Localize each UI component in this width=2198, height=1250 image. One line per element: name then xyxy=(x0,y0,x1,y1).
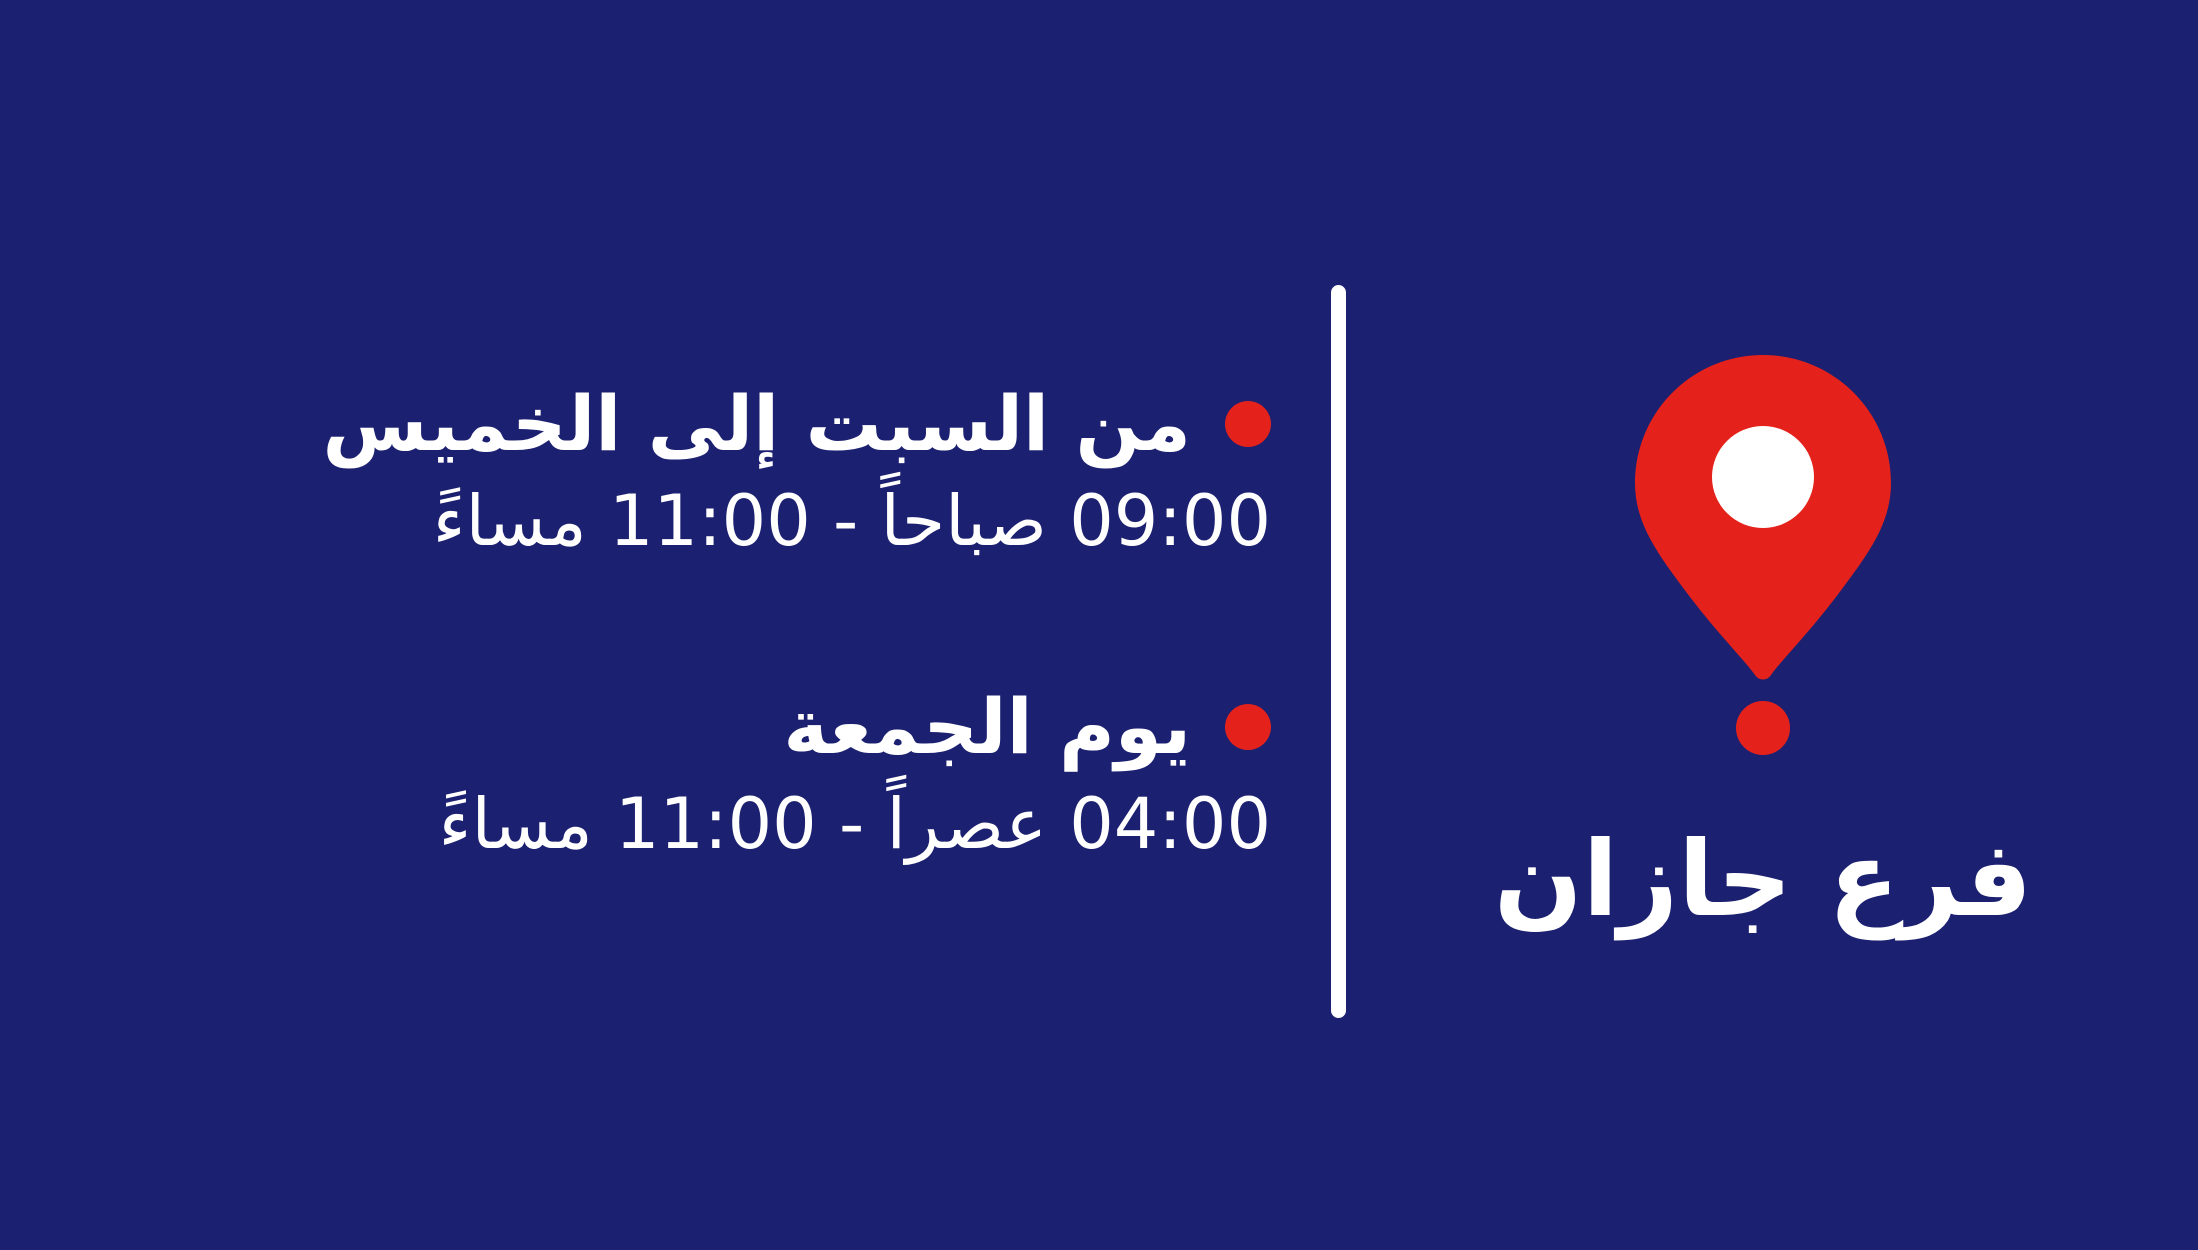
schedule-title-friday: يوم الجمعة xyxy=(783,685,1191,769)
branch-name-title: فرع جازان xyxy=(1494,823,2032,935)
branch-hours-banner: من السبت إلى الخميس 09:00 صباحاً - 11:00… xyxy=(0,0,2198,1250)
map-pin-base-dot-icon xyxy=(1736,701,1790,755)
schedule-hours-friday: 04:00 عصراً - 11:00 مساءً xyxy=(60,781,1271,869)
schedule-heading-row: من السبت إلى الخميس xyxy=(60,382,1271,466)
bullet-dot-icon xyxy=(1225,704,1271,750)
schedule-block-friday: يوم الجمعة 04:00 عصراً - 11:00 مساءً xyxy=(60,685,1271,868)
schedule-panel: من السبت إلى الخميس 09:00 صباحاً - 11:00… xyxy=(0,0,1331,1250)
schedule-hours-weekdays: 09:00 صباحاً - 11:00 مساءً xyxy=(60,478,1271,566)
map-pin-graphic xyxy=(1633,355,1893,745)
bullet-dot-icon xyxy=(1225,401,1271,447)
map-pin-icon xyxy=(1635,355,1891,681)
schedule-heading-row: يوم الجمعة xyxy=(60,685,1271,769)
schedule-title-weekdays: من السبت إلى الخميس xyxy=(323,382,1191,466)
schedule-block-weekdays: من السبت إلى الخميس 09:00 صباحاً - 11:00… xyxy=(60,382,1271,565)
branch-panel: فرع جازان xyxy=(1328,0,2198,1250)
